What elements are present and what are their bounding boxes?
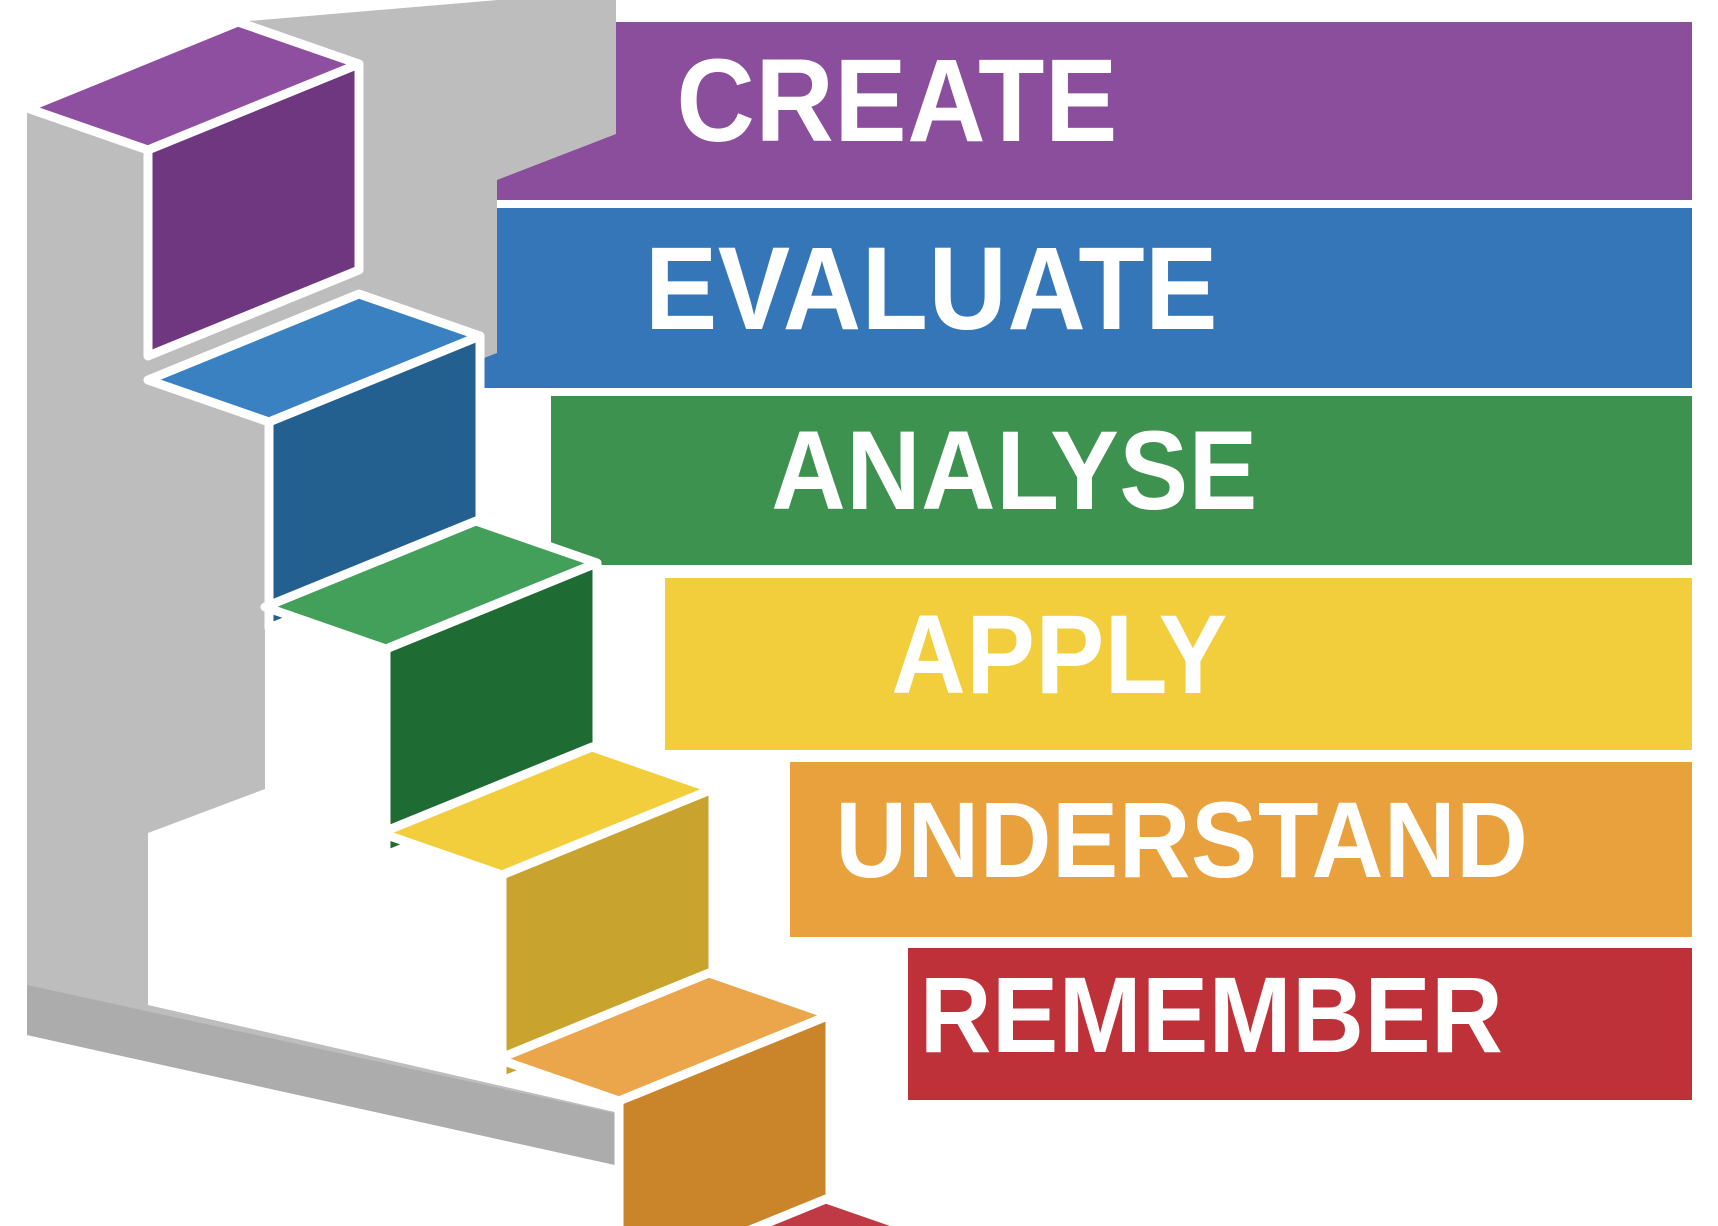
label-apply: APPLY [891, 599, 1228, 711]
figure-canvas: CREATE EVALUATE ANALYSE APPLY UNDERSTAND… [0, 0, 1718, 1226]
label-remember: REMEMBER [919, 961, 1503, 1069]
label-analyse: ANALYSE [771, 415, 1258, 527]
label-create: CREATE [676, 42, 1118, 160]
label-understand: UNDERSTAND [835, 786, 1528, 894]
label-evaluate: EVALUATE [645, 230, 1218, 348]
